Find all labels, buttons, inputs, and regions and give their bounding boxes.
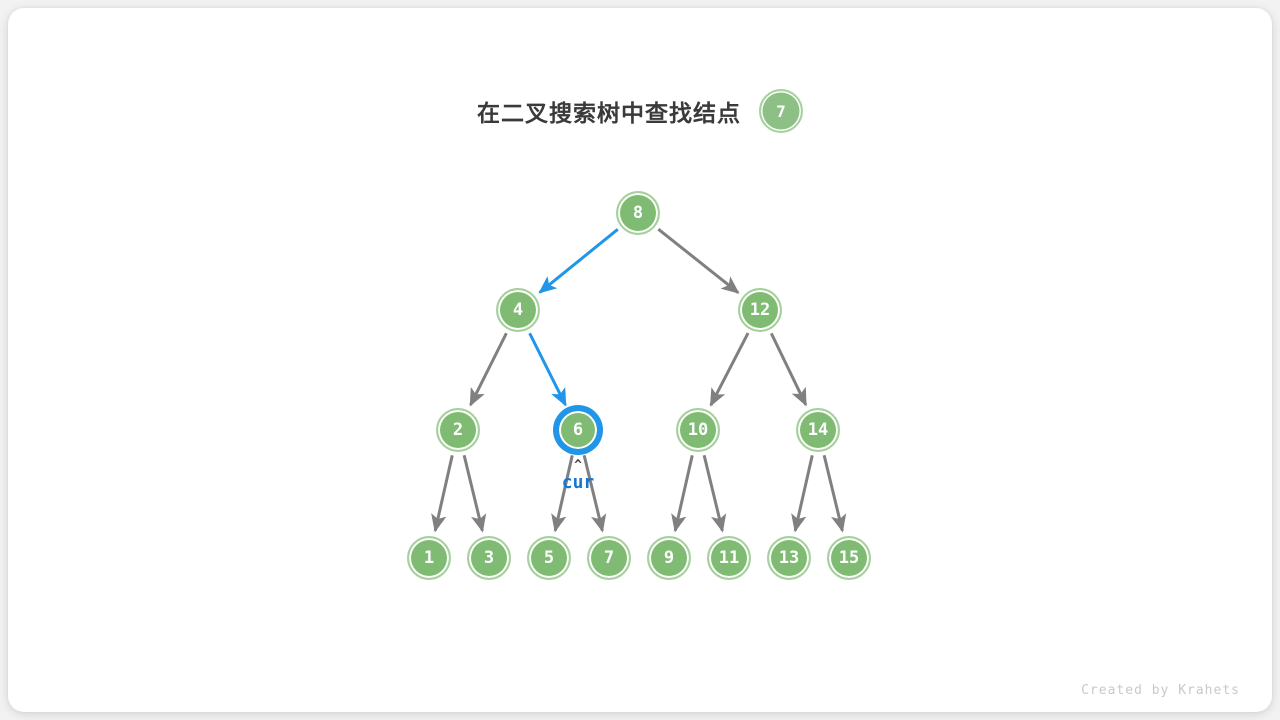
tree-node-2[interactable]: 2 xyxy=(436,408,480,452)
tree-node-1[interactable]: 1 xyxy=(407,536,451,580)
tree-node-4[interactable]: 4 xyxy=(496,288,540,332)
target-value-badge: 7 xyxy=(759,89,803,133)
tree-edge xyxy=(435,455,452,530)
tree-node-11[interactable]: 11 xyxy=(707,536,751,580)
tree-node-3[interactable]: 3 xyxy=(467,536,511,580)
cur-pointer-label: cur xyxy=(533,472,623,494)
tree-edge xyxy=(658,229,738,292)
tree-node-14[interactable]: 14 xyxy=(796,408,840,452)
tree-node-8[interactable]: 8 xyxy=(616,191,660,235)
tree-node-13[interactable]: 13 xyxy=(767,536,811,580)
tree-edge xyxy=(704,455,722,531)
tree-edge xyxy=(711,333,748,405)
figure-title-row: 在二叉搜索树中查找结点 7 xyxy=(0,88,1280,134)
tree-edge xyxy=(471,333,507,405)
tree-node-9[interactable]: 9 xyxy=(647,536,691,580)
binary-search-tree-figure: 在二叉搜索树中查找结点 7 841226101413579111315 ^ cu… xyxy=(0,0,1280,720)
screenshot-stage: 在二叉搜索树中查找结点 7 841226101413579111315 ^ cu… xyxy=(0,0,1280,720)
page-title: 在二叉搜索树中查找结点 xyxy=(477,94,741,128)
tree-node-6[interactable]: 6 xyxy=(556,408,600,452)
cur-pointer: ^ cur xyxy=(533,460,623,494)
tree-edge xyxy=(464,455,482,531)
tree-edge xyxy=(771,333,806,404)
tree-node-15[interactable]: 15 xyxy=(827,536,871,580)
tree-node-7[interactable]: 7 xyxy=(587,536,631,580)
tree-edge xyxy=(824,455,842,531)
tree-edge xyxy=(530,333,566,405)
tree-node-10[interactable]: 10 xyxy=(676,408,720,452)
footer-credit: Created by Krahets xyxy=(1081,683,1240,698)
tree-edge xyxy=(675,455,692,530)
cur-caret-icon: ^ xyxy=(533,460,623,472)
tree-node-5[interactable]: 5 xyxy=(527,536,571,580)
tree-node-12[interactable]: 12 xyxy=(738,288,782,332)
tree-edge xyxy=(795,455,812,530)
tree-edge xyxy=(540,229,618,292)
